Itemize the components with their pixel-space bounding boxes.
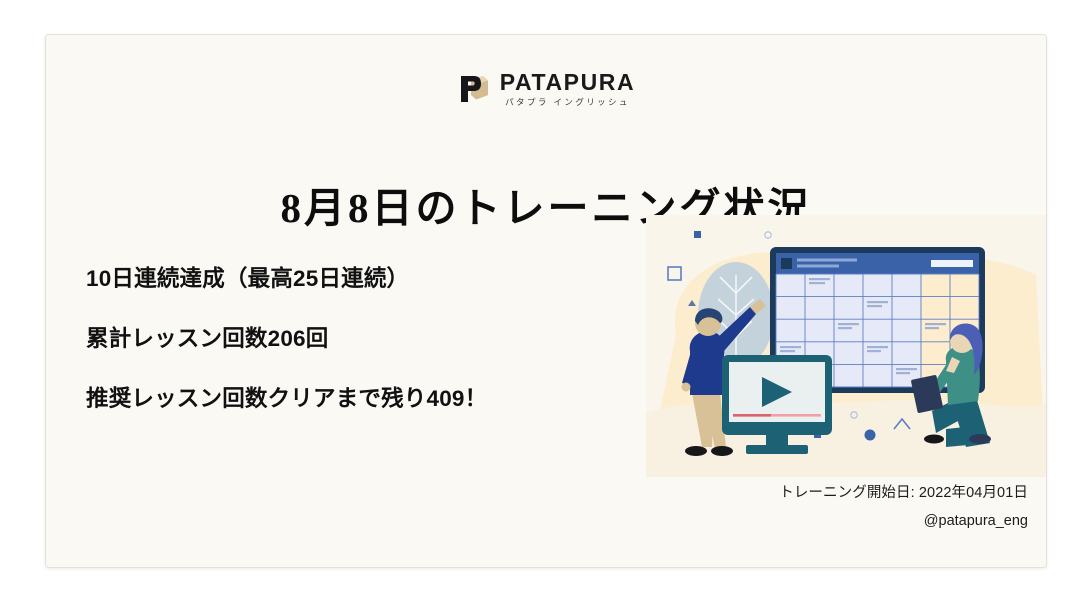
footer: トレーニング開始日: 2022年04月01日 @patapura_eng	[779, 481, 1028, 529]
brand-logo-text: PATAPURA パタプラ イングリッシュ	[500, 71, 635, 107]
brand-logo: PATAPURA パタプラ イングリッシュ	[46, 71, 1046, 107]
stats-list: 10日連続達成（最高25日連続） 累計レッスン回数206回 推奨レッスン回数クリ…	[86, 261, 626, 413]
stat-line-streak: 10日連続達成（最高25日連続）	[86, 261, 626, 293]
decor-dot-blue	[865, 430, 876, 441]
social-handle: @patapura_eng	[779, 513, 1028, 529]
decor-square-filled	[694, 231, 701, 238]
slide-card: PATAPURA パタプラ イングリッシュ 8月8日のトレーニング状況 10日連…	[45, 34, 1047, 568]
stat-line-total-lessons: 累計レッスン回数206回	[86, 321, 626, 353]
stat-line-remaining: 推奨レッスン回数クリアまで残り409！	[86, 381, 626, 413]
calendar-training-illustration	[646, 215, 1046, 477]
brand-tagline: パタプラ イングリッシュ	[505, 98, 630, 107]
brand-name: PATAPURA	[500, 71, 635, 94]
patapura-cube-p-logo-icon	[457, 72, 491, 106]
training-start-date: トレーニング開始日: 2022年04月01日	[779, 481, 1028, 502]
